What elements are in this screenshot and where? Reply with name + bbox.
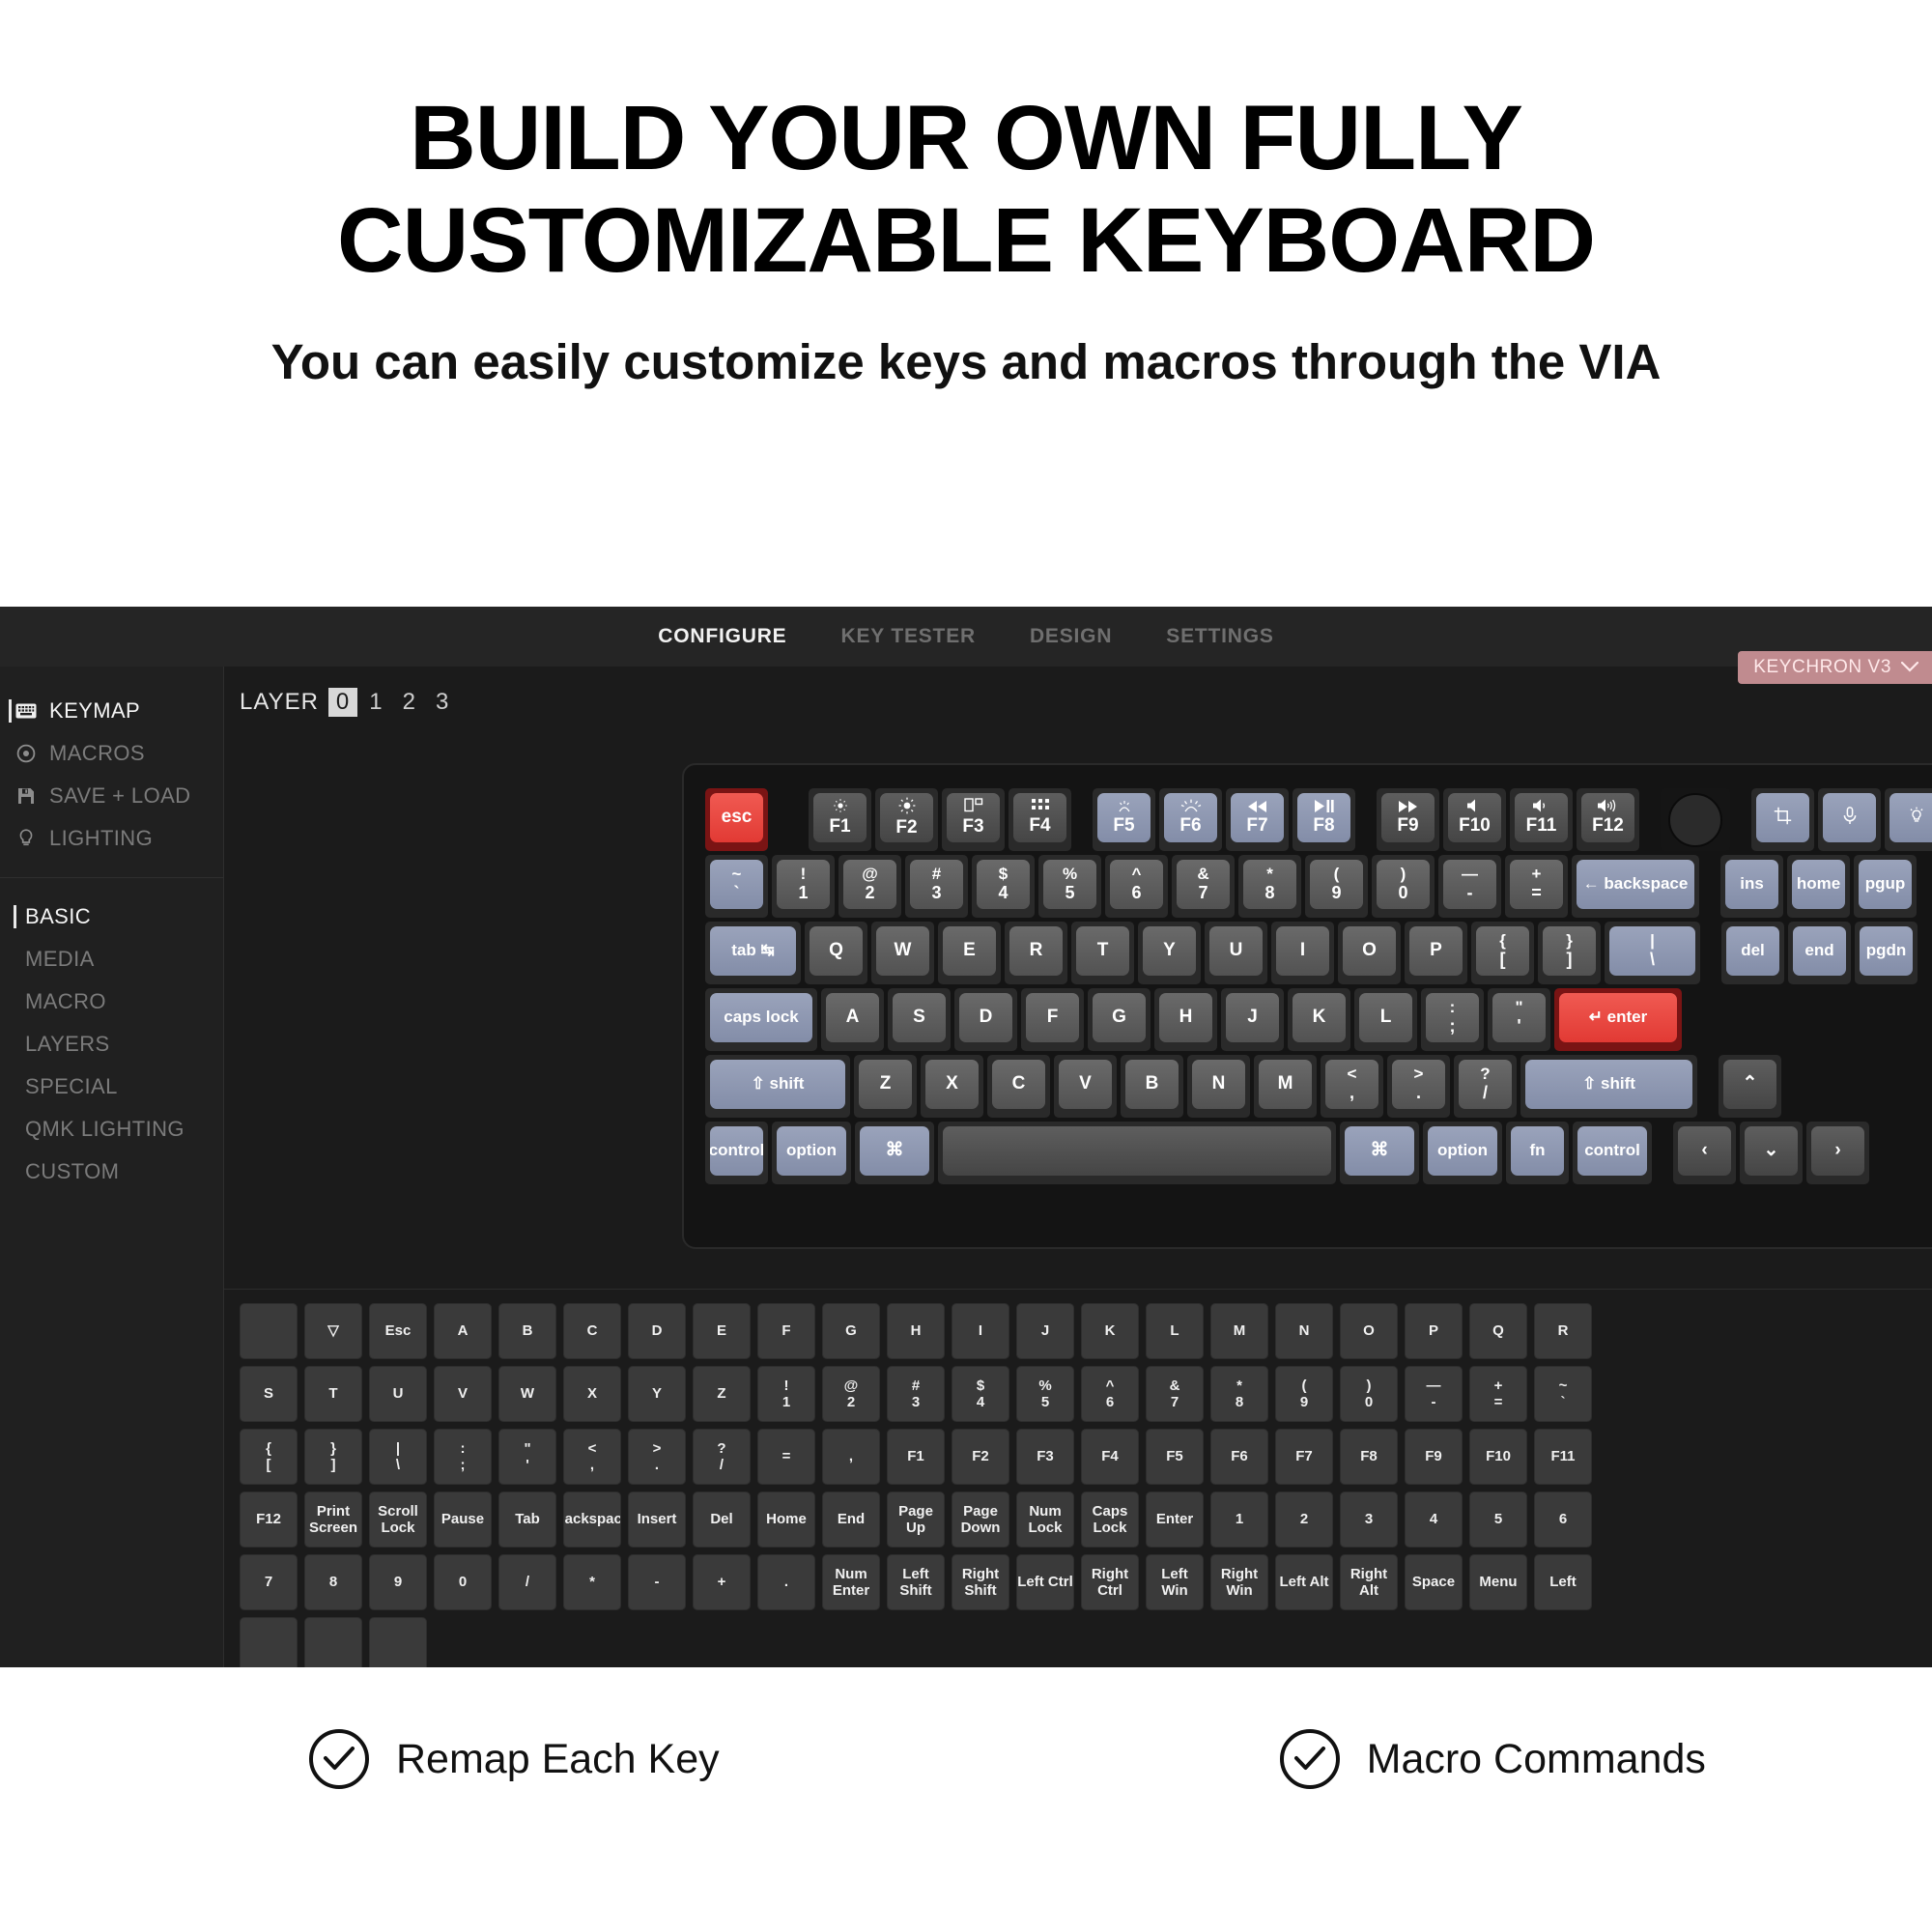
- key-c[interactable]: C: [987, 1055, 1050, 1118]
- key-f2[interactable]: F2: [875, 788, 938, 851]
- picker-key-[interactable]: +: [693, 1554, 751, 1610]
- picker-key-blank[interactable]: [240, 1617, 298, 1667]
- sidebar-item-label: LIGHTING: [49, 826, 153, 851]
- picker-key-f3[interactable]: F3: [1016, 1429, 1074, 1485]
- keycap-legend: ↵ enter: [1589, 1009, 1648, 1027]
- picker-key-f6[interactable]: F6: [1210, 1429, 1268, 1485]
- layer-3-button[interactable]: 3: [428, 688, 457, 717]
- layer-1-button[interactable]: 1: [361, 688, 390, 717]
- key-b[interactable]: B: [1121, 1055, 1183, 1118]
- key-4[interactable]: $4: [972, 855, 1035, 918]
- picker-key-label: 9: [394, 1574, 402, 1590]
- keycap-legend: C: [1012, 1074, 1026, 1094]
- key-s[interactable]: S: [888, 988, 951, 1051]
- picker-key-k[interactable]: K: [1081, 1303, 1139, 1359]
- picker-key-0[interactable]: 0: [434, 1554, 492, 1610]
- key-x[interactable]: X: [921, 1055, 983, 1118]
- picker-key-[interactable]: =: [757, 1429, 815, 1485]
- device-name: KEYCHRON V3: [1753, 657, 1891, 678]
- picker-key-label: F10: [1486, 1448, 1511, 1464]
- key-p[interactable]: P: [1405, 922, 1467, 984]
- picker-key-sublabel: ;: [461, 1457, 466, 1473]
- picker-key-f7[interactable]: F7: [1275, 1429, 1333, 1485]
- keycap: pgdn: [1860, 926, 1913, 976]
- key-f3[interactable]: F3: [942, 788, 1005, 851]
- keycap-legend: V: [1079, 1074, 1092, 1094]
- picker-key-f2[interactable]: F2: [952, 1429, 1009, 1485]
- picker-key-page-up[interactable]: Page Up: [887, 1492, 945, 1548]
- sidebar-item-special[interactable]: SPECIAL: [0, 1065, 223, 1108]
- picker-key-page-down[interactable]: PageDown: [952, 1492, 1009, 1548]
- picker-key-4[interactable]: $4: [952, 1366, 1009, 1422]
- picker-key-f12[interactable]: F12: [240, 1492, 298, 1548]
- key-tab[interactable]: tab ↹: [705, 922, 801, 984]
- picker-key-g[interactable]: G: [822, 1303, 880, 1359]
- keycap-shifted: ~: [732, 866, 742, 884]
- key-o[interactable]: O: [1338, 922, 1401, 984]
- picker-key-[interactable]: }]: [304, 1429, 362, 1485]
- backlight-down-icon: [1115, 799, 1134, 817]
- picker-key-1[interactable]: 1: [1210, 1492, 1268, 1548]
- key-shift[interactable]: ⇧ shift: [1520, 1055, 1697, 1118]
- picker-key-label: <: [588, 1440, 597, 1457]
- picker-key-5[interactable]: 5: [1469, 1492, 1527, 1548]
- picker-key-i[interactable]: I: [952, 1303, 1009, 1359]
- picker-key-left-win[interactable]: Left Win: [1146, 1554, 1204, 1610]
- key-[interactable]: ›: [1806, 1122, 1869, 1184]
- picker-key-left-alt[interactable]: Left Alt: [1275, 1554, 1333, 1610]
- key-[interactable]: {[: [1471, 922, 1534, 984]
- picker-key-d[interactable]: D: [628, 1303, 686, 1359]
- picker-key-space[interactable]: Space: [1405, 1554, 1463, 1610]
- picker-key-6[interactable]: ^6: [1081, 1366, 1139, 1422]
- key-option[interactable]: option: [772, 1122, 851, 1184]
- picker-key-h[interactable]: H: [887, 1303, 945, 1359]
- picker-key-x[interactable]: X: [563, 1366, 621, 1422]
- picker-key-label: U: [393, 1385, 404, 1402]
- key-h[interactable]: H: [1154, 988, 1217, 1051]
- key-f[interactable]: F: [1021, 988, 1084, 1051]
- keycap: |\: [1609, 926, 1695, 976]
- picker-key-enter[interactable]: Enter: [1146, 1492, 1204, 1548]
- key-f4[interactable]: F4: [1009, 788, 1071, 851]
- keycap-legend: F9: [1397, 816, 1418, 837]
- picker-key-l[interactable]: L: [1146, 1303, 1204, 1359]
- key-pgup[interactable]: pgup: [1854, 855, 1917, 918]
- picker-key-j[interactable]: J: [1016, 1303, 1074, 1359]
- key-i[interactable]: I: [1271, 922, 1334, 984]
- left-sidebar: KEYMAPMACROSSAVE + LOADLIGHTING BASICMED…: [0, 667, 224, 1667]
- picker-key-end[interactable]: End: [822, 1492, 880, 1548]
- key-option[interactable]: option: [1423, 1122, 1502, 1184]
- key-[interactable]: ⌘: [855, 1122, 934, 1184]
- sidebar-item-layers[interactable]: LAYERS: [0, 1023, 223, 1065]
- picker-key-2[interactable]: @2: [822, 1366, 880, 1422]
- picker-key-[interactable]: ,: [822, 1429, 880, 1485]
- picker-key-f1[interactable]: F1: [887, 1429, 945, 1485]
- picker-key-label: :: [461, 1440, 466, 1457]
- key-[interactable]: ⌃: [1719, 1055, 1781, 1118]
- picker-key-num-lock[interactable]: NumLock: [1016, 1492, 1074, 1548]
- key-d[interactable]: D: [954, 988, 1017, 1051]
- keycap-legend: Y: [1163, 941, 1176, 961]
- keycap: $4: [977, 860, 1030, 909]
- key-fn[interactable]: fn: [1506, 1122, 1569, 1184]
- picker-key-label: Page: [963, 1503, 998, 1520]
- keycap: Q: [810, 926, 863, 976]
- picker-key-[interactable]: -: [628, 1554, 686, 1610]
- picker-key-label: .: [784, 1574, 788, 1590]
- picker-key-f5[interactable]: F5: [1146, 1429, 1204, 1485]
- key-del[interactable]: del: [1721, 922, 1784, 984]
- picker-key-label: H: [911, 1322, 922, 1339]
- key-k[interactable]: K: [1288, 988, 1350, 1051]
- picker-key-backspace[interactable]: Backspace: [563, 1492, 621, 1548]
- picker-key-label: Space: [1412, 1574, 1455, 1590]
- picker-key-7[interactable]: 7: [240, 1554, 298, 1610]
- picker-key-blank[interactable]: [240, 1303, 298, 1359]
- key-j[interactable]: J: [1221, 988, 1284, 1051]
- keycap-shifted: }: [1566, 932, 1573, 951]
- keycap-legend: control: [1584, 1142, 1640, 1160]
- picker-key-b[interactable]: B: [498, 1303, 556, 1359]
- key-[interactable]: <,: [1321, 1055, 1383, 1118]
- keycap-legend: ⌘: [886, 1141, 904, 1161]
- key-home[interactable]: home: [1787, 855, 1850, 918]
- picker-key-3[interactable]: #3: [887, 1366, 945, 1422]
- key-3[interactable]: #3: [905, 855, 968, 918]
- keyboard-preview[interactable]: escF1F2F3F4F5F6F7F8F9F10F11F12~`!1@2#3$4…: [682, 763, 1932, 1249]
- picker-key-esc[interactable]: Esc: [369, 1303, 427, 1359]
- key-backspace[interactable]: ← backspace: [1572, 855, 1699, 918]
- keycap: F7: [1231, 793, 1284, 842]
- keycap-legend: F10: [1459, 816, 1491, 837]
- picker-key-s[interactable]: S: [240, 1366, 298, 1422]
- key-r[interactable]: R: [1005, 922, 1067, 984]
- key-end[interactable]: end: [1788, 922, 1851, 984]
- picker-key-a[interactable]: A: [434, 1303, 492, 1359]
- key-control[interactable]: control: [705, 1122, 768, 1184]
- picker-key-right-alt[interactable]: Right Alt: [1340, 1554, 1398, 1610]
- key-f6[interactable]: F6: [1159, 788, 1222, 851]
- picker-key-p[interactable]: P: [1405, 1303, 1463, 1359]
- key-l[interactable]: L: [1354, 988, 1417, 1051]
- tab-configure[interactable]: CONFIGURE: [658, 625, 786, 648]
- sidebar-item-lighting[interactable]: LIGHTING: [0, 817, 223, 860]
- picker-key-4[interactable]: 4: [1405, 1492, 1463, 1548]
- key-a[interactable]: A: [821, 988, 884, 1051]
- picker-key-home[interactable]: Home: [757, 1492, 815, 1548]
- key-[interactable]: :;: [1421, 988, 1484, 1051]
- keyboard-gap: [772, 788, 805, 851]
- picker-key-z[interactable]: Z: [693, 1366, 751, 1422]
- key-[interactable]: ⌘: [1340, 1122, 1419, 1184]
- picker-key-pause[interactable]: Pause: [434, 1492, 492, 1548]
- tab-design[interactable]: DESIGN: [1030, 625, 1112, 648]
- sidebar-item-save-load[interactable]: SAVE + LOAD: [0, 775, 223, 817]
- keycap-legend: F1: [829, 817, 850, 838]
- sidebar-item-media[interactable]: MEDIA: [0, 938, 223, 980]
- key-[interactable]: |\: [1605, 922, 1700, 984]
- picker-key-label: *: [589, 1574, 595, 1590]
- key-blank[interactable]: [1885, 788, 1932, 851]
- picker-key-print-screen[interactable]: PrintScreen: [304, 1492, 362, 1548]
- picker-key-f10[interactable]: F10: [1469, 1429, 1527, 1485]
- keycap-legend: end: [1804, 942, 1833, 960]
- picker-key-m[interactable]: M: [1210, 1303, 1268, 1359]
- picker-key-caps-lock[interactable]: CapsLock: [1081, 1492, 1139, 1548]
- picker-key-label: >: [653, 1440, 662, 1457]
- sidebar-item-basic[interactable]: BASIC: [0, 895, 223, 938]
- key-2[interactable]: @2: [838, 855, 901, 918]
- picker-key-label: 2: [1300, 1511, 1308, 1527]
- key-7[interactable]: &7: [1172, 855, 1235, 918]
- key-f10[interactable]: F10: [1443, 788, 1506, 851]
- tab-settings[interactable]: SETTINGS: [1166, 625, 1273, 648]
- key-e[interactable]: E: [938, 922, 1001, 984]
- picker-key-label: (: [1302, 1378, 1307, 1394]
- key-blank[interactable]: [938, 1122, 1336, 1184]
- picker-key-left[interactable]: Left: [1534, 1554, 1592, 1610]
- picker-key-0[interactable]: )0: [1340, 1366, 1398, 1422]
- keycap: fn: [1511, 1126, 1564, 1176]
- key-f9[interactable]: F9: [1377, 788, 1439, 851]
- sidebar-item-custom[interactable]: CUSTOM: [0, 1151, 223, 1193]
- key-f1[interactable]: F1: [809, 788, 871, 851]
- key-w[interactable]: W: [871, 922, 934, 984]
- key-y[interactable]: Y: [1138, 922, 1201, 984]
- key-t[interactable]: T: [1071, 922, 1134, 984]
- keycap-legend: 9: [1331, 884, 1341, 903]
- key-0[interactable]: )0: [1372, 855, 1435, 918]
- key-caps-lock[interactable]: caps lock: [705, 988, 817, 1051]
- picker-key-2[interactable]: 2: [1275, 1492, 1333, 1548]
- key-v[interactable]: V: [1054, 1055, 1117, 1118]
- picker-key-[interactable]: +=: [1469, 1366, 1527, 1422]
- picker-key-r[interactable]: R: [1534, 1303, 1592, 1359]
- picker-key-label: |: [396, 1440, 400, 1457]
- picker-key-[interactable]: >.: [628, 1429, 686, 1485]
- keycap: I: [1276, 926, 1329, 976]
- key-g[interactable]: G: [1088, 988, 1151, 1051]
- backlight-up-icon: [1180, 799, 1202, 817]
- picker-key-[interactable]: *: [563, 1554, 621, 1610]
- key-blank[interactable]: [1751, 788, 1814, 851]
- sidebar-item-qmk-lighting[interactable]: QMK LIGHTING: [0, 1108, 223, 1151]
- picker-key-q[interactable]: Q: [1469, 1303, 1527, 1359]
- layer-0-button[interactable]: 0: [328, 688, 357, 717]
- picker-key-c[interactable]: C: [563, 1303, 621, 1359]
- keycap-legend: ⌘: [1371, 1141, 1389, 1161]
- picker-key-left-shift[interactable]: LeftShift: [887, 1554, 945, 1610]
- keycap-legend: 2: [865, 884, 874, 903]
- picker-key-o[interactable]: O: [1340, 1303, 1398, 1359]
- key-6[interactable]: ^6: [1105, 855, 1168, 918]
- title-line-2: CUSTOMIZABLE KEYBOARD: [337, 189, 1595, 292]
- picker-key-menu[interactable]: Menu: [1469, 1554, 1527, 1610]
- chevron-down-icon: [1901, 657, 1918, 678]
- key-[interactable]: ~`: [705, 855, 768, 918]
- key-n[interactable]: N: [1187, 1055, 1250, 1118]
- lightbulb-icon: [1909, 807, 1924, 830]
- key-f8[interactable]: F8: [1293, 788, 1355, 851]
- key-[interactable]: ?/: [1454, 1055, 1517, 1118]
- picker-row: F12PrintScreenScrollLockPauseTabBackspac…: [240, 1492, 1920, 1548]
- picker-key-label: G: [845, 1322, 857, 1339]
- picker-key-7[interactable]: &7: [1146, 1366, 1204, 1422]
- picker-key-u[interactable]: U: [369, 1366, 427, 1422]
- picker-key-label: O: [1363, 1322, 1375, 1339]
- picker-key-label: Y: [652, 1385, 662, 1402]
- picker-key-sublabel: 9: [1300, 1394, 1308, 1410]
- screenshot-icon: [1774, 807, 1792, 830]
- picker-key-[interactable]: |\: [369, 1429, 427, 1485]
- picker-key-v[interactable]: V: [434, 1366, 492, 1422]
- key-[interactable]: +=: [1505, 855, 1568, 918]
- key-ins[interactable]: ins: [1720, 855, 1783, 918]
- picker-key-[interactable]: .: [757, 1554, 815, 1610]
- picker-key-w[interactable]: W: [498, 1366, 556, 1422]
- keycap: ← backspace: [1577, 860, 1694, 909]
- device-badge[interactable]: KEYCHRON V3: [1738, 651, 1932, 684]
- picker-key-label: Left: [902, 1566, 929, 1582]
- keyboard-row: controloption⌘⌘optionfncontrol‹⌄›: [705, 1122, 1932, 1184]
- picker-key-insert[interactable]: Insert: [628, 1492, 686, 1548]
- picker-key-label: F8: [1360, 1448, 1378, 1464]
- key-pgdn[interactable]: pgdn: [1855, 922, 1918, 984]
- picker-key-f11[interactable]: F11: [1534, 1429, 1592, 1485]
- key-9[interactable]: (9: [1305, 855, 1368, 918]
- picker-key-label: 8: [329, 1574, 337, 1590]
- key-u[interactable]: U: [1205, 922, 1267, 984]
- key-enter[interactable]: ↵ enter: [1554, 988, 1682, 1051]
- picker-key-f9[interactable]: F9: [1405, 1429, 1463, 1485]
- key-5[interactable]: %5: [1038, 855, 1101, 918]
- keycap: ⌘: [1345, 1126, 1414, 1176]
- picker-key-tab[interactable]: Tab: [498, 1492, 556, 1548]
- keycap-legend: 3: [931, 884, 941, 903]
- picker-key-n[interactable]: N: [1275, 1303, 1333, 1359]
- picker-key-[interactable]: —-: [1405, 1366, 1463, 1422]
- keyboard-gap: [1656, 1122, 1669, 1184]
- key-[interactable]: "': [1488, 988, 1550, 1051]
- keycap: H: [1159, 993, 1212, 1042]
- keycap: Y: [1143, 926, 1196, 976]
- picker-key-[interactable]: <,: [563, 1429, 621, 1485]
- picker-key-sublabel: 7: [1171, 1394, 1179, 1410]
- picker-key-blank[interactable]: [369, 1617, 427, 1667]
- picker-key-[interactable]: {[: [240, 1429, 298, 1485]
- picker-key-sublabel: Lock: [1028, 1520, 1062, 1536]
- key-esc[interactable]: esc: [705, 788, 768, 851]
- keycap-legend: X: [946, 1074, 958, 1094]
- key-picker-grid[interactable]: ▽EscABCDEFGHIJKLMNOPQRSTUVWXYZ!1@2#3$4%5…: [224, 1290, 1932, 1667]
- picker-key-8[interactable]: 8: [304, 1554, 362, 1610]
- picker-key-label: C: [587, 1322, 598, 1339]
- key-control[interactable]: control: [1573, 1122, 1652, 1184]
- rotary-knob[interactable]: [1661, 788, 1730, 851]
- picker-key-blank[interactable]: [304, 1617, 362, 1667]
- picker-key-6[interactable]: 6: [1534, 1492, 1592, 1548]
- key-shift[interactable]: ⇧ shift: [705, 1055, 850, 1118]
- picker-key-label: @: [844, 1378, 859, 1394]
- sidebar-item-macro[interactable]: MACRO: [0, 980, 223, 1023]
- picker-key-label: ): [1367, 1378, 1372, 1394]
- key-q[interactable]: Q: [805, 922, 867, 984]
- keycap: B: [1125, 1060, 1179, 1109]
- picker-key-left-ctrl[interactable]: Left Ctrl: [1016, 1554, 1074, 1610]
- keycap: F3: [947, 793, 1000, 842]
- key-f5[interactable]: F5: [1093, 788, 1155, 851]
- keycap: option: [1428, 1126, 1497, 1176]
- picker-key-label: ,: [849, 1448, 853, 1464]
- key-z[interactable]: Z: [854, 1055, 917, 1118]
- key-f12[interactable]: F12: [1577, 788, 1639, 851]
- key-1[interactable]: !1: [772, 855, 835, 918]
- picker-key-5[interactable]: %5: [1016, 1366, 1074, 1422]
- key-[interactable]: }]: [1538, 922, 1601, 984]
- keycap-legend: control: [710, 1142, 763, 1160]
- picker-key-t[interactable]: T: [304, 1366, 362, 1422]
- picker-key-f8[interactable]: F8: [1340, 1429, 1398, 1485]
- key-[interactable]: —-: [1438, 855, 1501, 918]
- keycap-legend: F7: [1246, 816, 1267, 837]
- picker-key-[interactable]: :;: [434, 1429, 492, 1485]
- picker-key-right-ctrl[interactable]: RightCtrl: [1081, 1554, 1139, 1610]
- key-8[interactable]: *8: [1238, 855, 1301, 918]
- key-[interactable]: ⌄: [1740, 1122, 1803, 1184]
- key-f11[interactable]: F11: [1510, 788, 1573, 851]
- picker-key-label: B: [523, 1322, 533, 1339]
- sidebar-item-keymap[interactable]: KEYMAP: [0, 690, 223, 732]
- key-m[interactable]: M: [1254, 1055, 1317, 1118]
- picker-key-f4[interactable]: F4: [1081, 1429, 1139, 1485]
- key-[interactable]: ‹: [1673, 1122, 1736, 1184]
- key-blank[interactable]: [1818, 788, 1881, 851]
- picker-key-label: E: [717, 1322, 726, 1339]
- picker-key-[interactable]: ▽: [304, 1303, 362, 1359]
- picker-key-9[interactable]: (9: [1275, 1366, 1333, 1422]
- picker-key-scroll-lock[interactable]: ScrollLock: [369, 1492, 427, 1548]
- keycap-legend: W: [895, 941, 912, 961]
- picker-key-e[interactable]: E: [693, 1303, 751, 1359]
- picker-key-[interactable]: "': [498, 1429, 556, 1485]
- picker-key-right-win[interactable]: RightWin: [1210, 1554, 1268, 1610]
- keycap-legend: esc: [722, 808, 753, 828]
- keycap: J: [1226, 993, 1279, 1042]
- picker-key-3[interactable]: 3: [1340, 1492, 1398, 1548]
- key-[interactable]: >.: [1387, 1055, 1450, 1118]
- picker-key-9[interactable]: 9: [369, 1554, 427, 1610]
- picker-key-del[interactable]: Del: [693, 1492, 751, 1548]
- picker-key-8[interactable]: *8: [1210, 1366, 1268, 1422]
- picker-key-1[interactable]: !1: [757, 1366, 815, 1422]
- sidebar-item-macros[interactable]: MACROS: [0, 732, 223, 775]
- picker-key-right-shift[interactable]: RightShift: [952, 1554, 1009, 1610]
- picker-key-f[interactable]: F: [757, 1303, 815, 1359]
- keycap-legend: 7: [1198, 884, 1207, 903]
- tab-key-tester[interactable]: KEY TESTER: [840, 625, 975, 648]
- keycap-legend: ← backspace: [1583, 875, 1689, 894]
- picker-key-[interactable]: /: [498, 1554, 556, 1610]
- picker-key-y[interactable]: Y: [628, 1366, 686, 1422]
- keycap-legend: ': [1517, 1017, 1520, 1037]
- picker-key-[interactable]: ~`: [1534, 1366, 1592, 1422]
- key-f7[interactable]: F7: [1226, 788, 1289, 851]
- picker-key-[interactable]: ?/: [693, 1429, 751, 1485]
- picker-key-num-enter[interactable]: NumEnter: [822, 1554, 880, 1610]
- layer-2-button[interactable]: 2: [395, 688, 424, 717]
